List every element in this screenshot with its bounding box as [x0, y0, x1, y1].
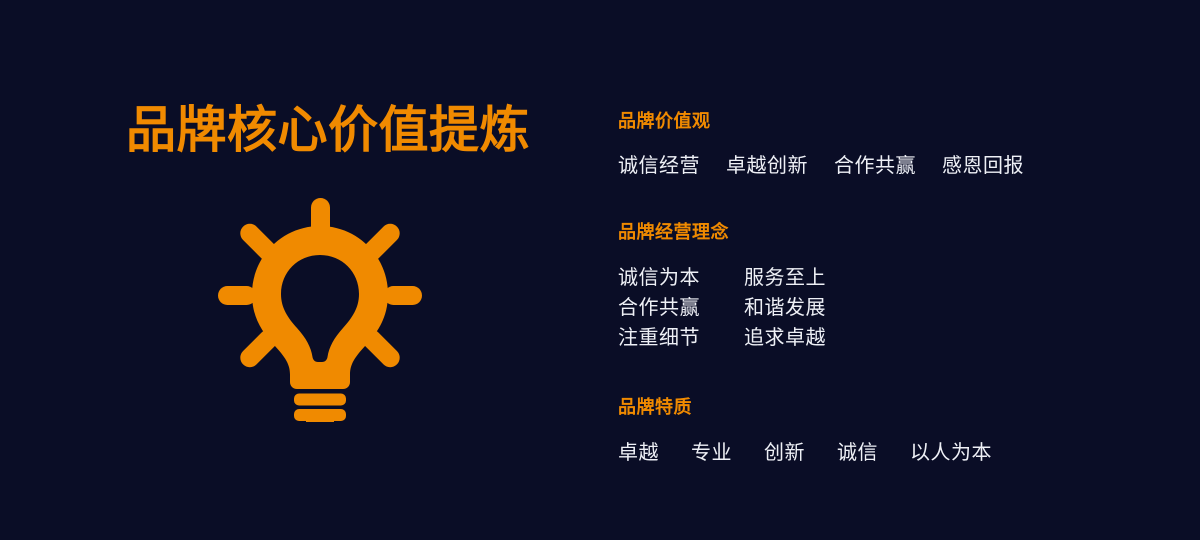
brand-philosophy-item: 注重细节 [618, 328, 744, 348]
slide-canvas: 品牌核心价值提炼 [0, 0, 1200, 540]
section-brand-traits: 品牌特质 卓越 专业 创新 诚信 以人为本 [618, 398, 992, 463]
brand-traits-item: 卓越 [618, 443, 659, 463]
brand-philosophy-row: 注重细节 追求卓越 [618, 328, 826, 348]
brand-philosophy-item: 诚信为本 [618, 268, 744, 288]
brand-traits-item: 以人为本 [910, 443, 992, 463]
section-title-brand-values: 品牌价值观 [618, 112, 1024, 130]
brand-values-item: 合作共赢 [834, 156, 916, 176]
brand-traits-item: 诚信 [837, 443, 878, 463]
brand-values-item: 卓越创新 [726, 156, 808, 176]
lightbulb-icon [218, 198, 422, 422]
brand-philosophy-item-list: 诚信为本 服务至上 合作共赢 和谐发展 注重细节 追求卓越 [618, 268, 826, 348]
left-panel: 品牌核心价值提炼 [0, 0, 600, 540]
brand-traits-item-list: 卓越 专业 创新 诚信 以人为本 [618, 443, 992, 463]
brand-philosophy-item: 和谐发展 [744, 298, 826, 318]
section-brand-philosophy: 品牌经营理念 诚信为本 服务至上 合作共赢 和谐发展 注重细节 追求卓越 [618, 223, 826, 348]
brand-values-item-list: 诚信经营 卓越创新 合作共赢 感恩回报 [618, 156, 1024, 176]
brand-traits-item: 专业 [691, 443, 732, 463]
brand-philosophy-row: 诚信为本 服务至上 [618, 268, 826, 288]
brand-values-item: 诚信经营 [618, 156, 700, 176]
brand-philosophy-item: 追求卓越 [744, 328, 826, 348]
brand-values-item: 感恩回报 [942, 156, 1024, 176]
right-panel: 品牌价值观 诚信经营 卓越创新 合作共赢 感恩回报 品牌经营理念 诚信为本 服务… [618, 0, 1178, 540]
brand-philosophy-item: 服务至上 [744, 268, 826, 288]
section-brand-values: 品牌价值观 诚信经营 卓越创新 合作共赢 感恩回报 [618, 112, 1024, 176]
brand-philosophy-item: 合作共赢 [618, 298, 744, 318]
page-title: 品牌核心价值提炼 [126, 104, 530, 157]
section-title-brand-traits: 品牌特质 [618, 398, 992, 416]
brand-traits-item: 创新 [764, 443, 805, 463]
section-title-brand-philosophy: 品牌经营理念 [618, 223, 826, 241]
brand-philosophy-row: 合作共赢 和谐发展 [618, 298, 826, 318]
